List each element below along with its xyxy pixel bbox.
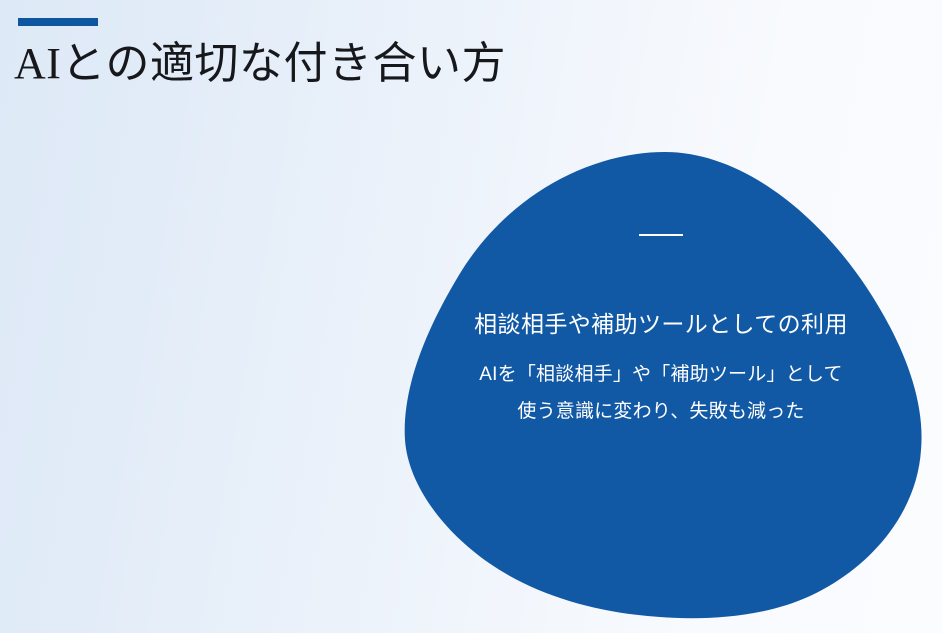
page-title: AIとの適切な付き合い方	[14, 40, 634, 88]
accent-bar	[18, 18, 98, 26]
body-line: AIを「相談相手」や「補助ツール」として	[411, 356, 911, 393]
blob-heading: 相談相手や補助ツールとしての利用	[411, 311, 911, 339]
slide-canvas: AIとの適切な付き合い方 相談相手や補助ツールとしての利用 AIを「相談相手」や…	[0, 0, 942, 633]
blob-body-text: AIを「相談相手」や「補助ツール」として 使う意識に変わり、失敗も減った	[411, 356, 911, 430]
divider-rule	[639, 234, 683, 236]
title-block: AIとの適切な付き合い方	[14, 18, 634, 88]
blob-content: 相談相手や補助ツールとしての利用 AIを「相談相手」や「補助ツール」として 使う…	[411, 210, 911, 430]
body-line: 使う意識に変わり、失敗も減った	[411, 393, 911, 430]
